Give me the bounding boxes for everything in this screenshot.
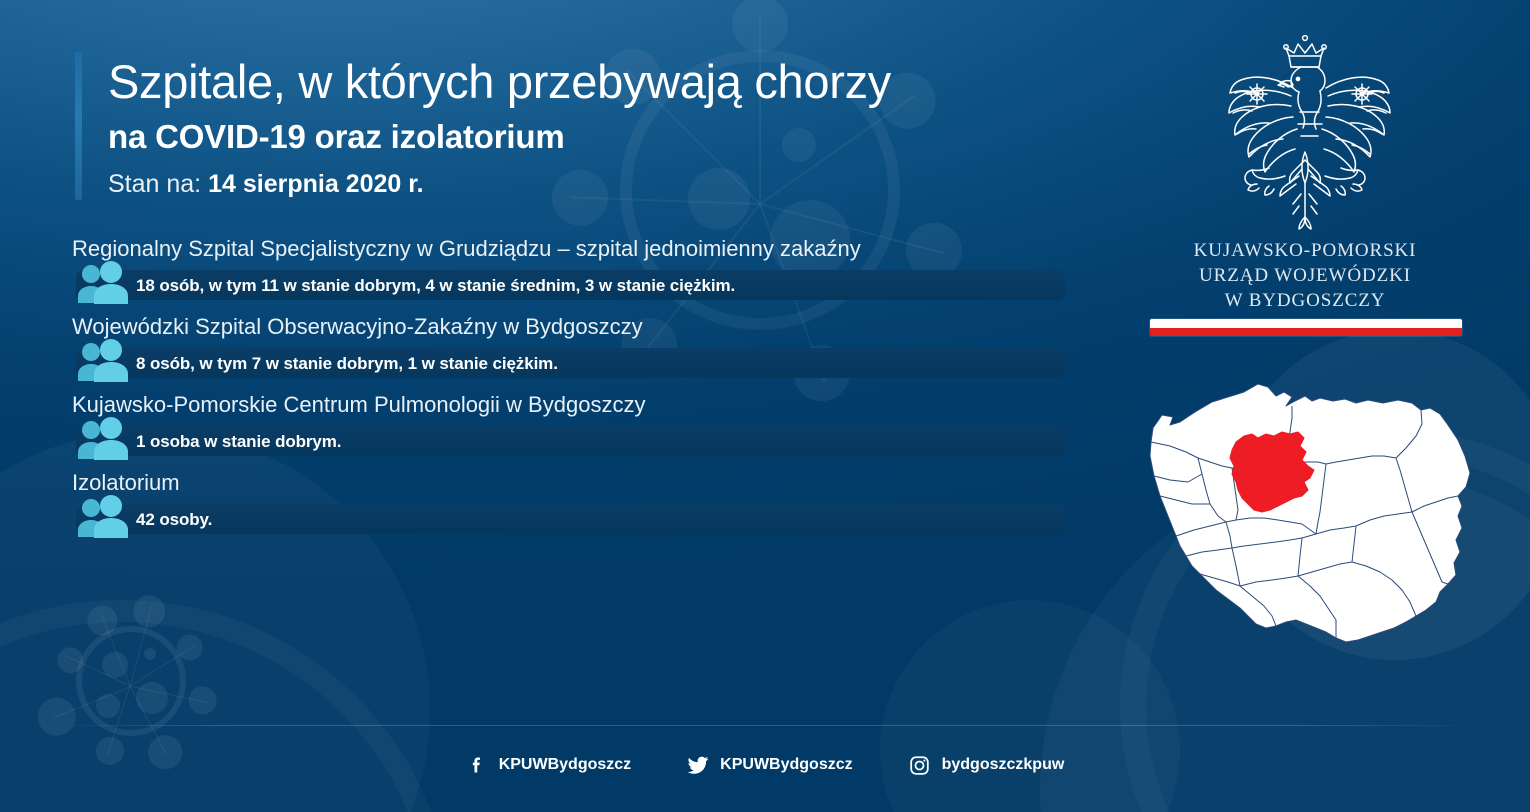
bg-arc-2	[0, 600, 454, 812]
twitter-icon	[687, 754, 709, 776]
as-of-line: Stan na: 14 sierpnia 2020 r.	[108, 170, 424, 199]
social-handle: KPUWBydgoszcz	[499, 756, 631, 774]
hospital-name: Regionalny Szpital Specjalistyczny w Gru…	[72, 236, 861, 262]
as-of-date: 14 sierpnia 2020 r.	[208, 170, 423, 198]
value-text: 1 osoba w stanie dobrym.	[136, 432, 341, 452]
title-accent-bar	[75, 52, 82, 200]
infographic-canvas: Szpitale, w których przebywają chorzy na…	[0, 0, 1530, 812]
instagram-icon	[909, 754, 931, 776]
organization-name: KUJAWSKO-POMORSKI URZĄD WOJEWÓDZKI W BYD…	[1150, 238, 1460, 313]
social-link-facebook[interactable]: KPUWBydgoszcz	[466, 754, 631, 776]
as-of-label: Stan na:	[108, 170, 201, 198]
flag-red-stripe	[1150, 328, 1462, 337]
social-handle: bydgoszczkpuw	[942, 756, 1065, 774]
value-text: 8 osób, w tym 7 w stanie dobrym, 1 w sta…	[136, 354, 558, 374]
people-icon	[76, 339, 132, 383]
value-text: 18 osób, w tym 11 w stanie dobrym, 4 w s…	[136, 276, 735, 296]
value-text: 42 osoby.	[136, 510, 212, 530]
value-bar	[76, 504, 1065, 534]
social-link-instagram[interactable]: bydgoszczkpuw	[909, 754, 1065, 776]
hospital-name: Izolatorium	[72, 470, 180, 496]
hospital-name: Wojewódzki Szpital Obserwacyjno-Zakaźny …	[72, 314, 643, 340]
facebook-icon	[466, 754, 488, 776]
page-title-line2: na COVID-19 oraz izolatorium	[108, 118, 564, 156]
social-links: KPUWBydgoszcz KPUWBydgoszcz bydgoszczkpu…	[0, 754, 1530, 776]
flag-white-stripe	[1150, 319, 1462, 328]
bg-blob-4	[880, 600, 1180, 812]
org-line-1: KUJAWSKO-POMORSKI	[1150, 238, 1460, 263]
social-link-twitter[interactable]: KPUWBydgoszcz	[687, 754, 852, 776]
people-icon	[76, 495, 132, 539]
page-title-line1: Szpitale, w których przebywają chorzy	[108, 54, 891, 109]
polish-flag-bar-icon	[1150, 319, 1462, 336]
footer-divider	[70, 725, 1460, 726]
virus-decoration-small	[40, 590, 220, 770]
social-handle: KPUWBydgoszcz	[720, 756, 852, 774]
people-icon	[76, 261, 132, 305]
org-line-2: URZĄD WOJEWÓDZKI	[1150, 263, 1460, 288]
people-icon	[76, 417, 132, 461]
polish-eagle-crest-icon	[1205, 26, 1405, 231]
hospital-name: Kujawsko-Pomorskie Centrum Pulmonologii …	[72, 392, 645, 418]
org-line-3: W BYDGOSZCZY	[1150, 288, 1460, 313]
poland-map	[1140, 370, 1480, 655]
